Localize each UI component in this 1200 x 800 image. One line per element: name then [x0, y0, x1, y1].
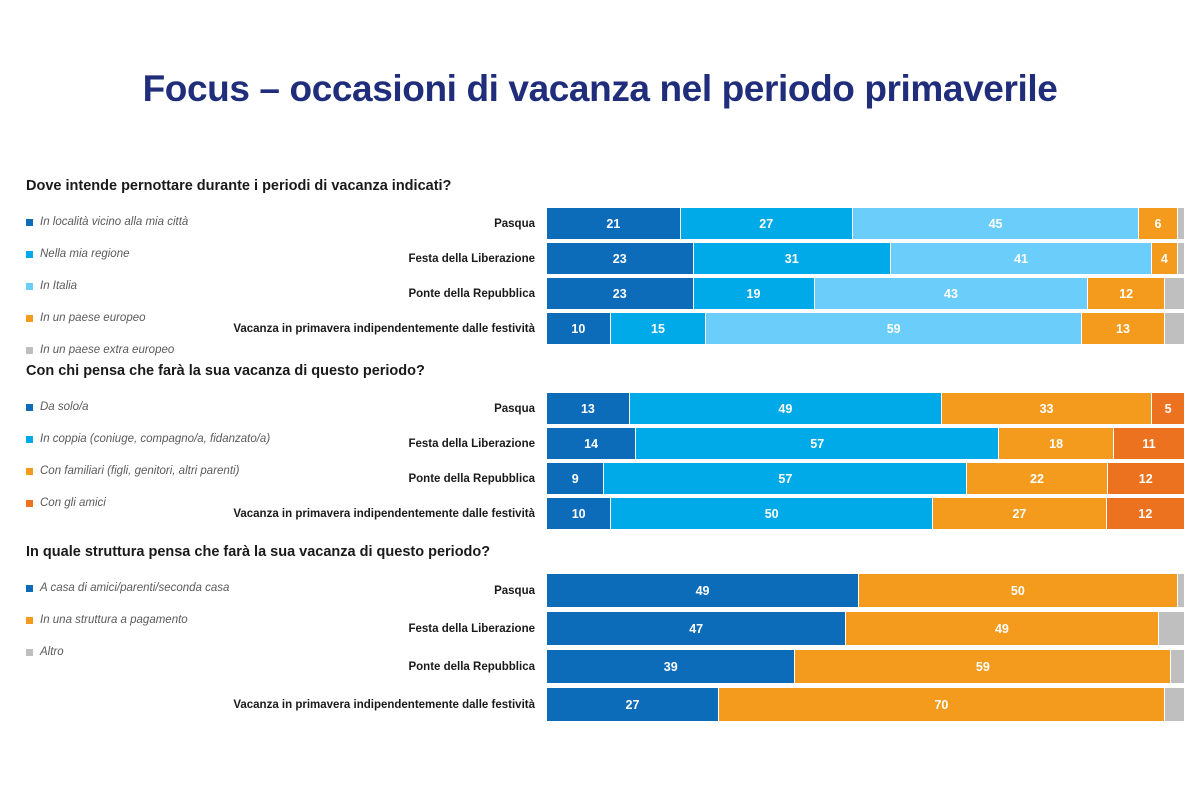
- bar-track: 23194312: [547, 278, 1184, 309]
- bar-track: 10502712: [547, 498, 1184, 529]
- section-question: In quale struttura pensa che farà la sua…: [26, 544, 490, 560]
- bar-segment-altro: [1171, 650, 1184, 683]
- category-label-ponte-della-repubblica: Ponte della Repubblica: [210, 473, 547, 485]
- bar-segment-in-una-struttura-a-pagamento: 49: [846, 612, 1158, 645]
- chart-row: Festa della Liberazione14571811: [210, 428, 1184, 459]
- bar-segment-in-un-paese-extra-europeo: [1165, 278, 1184, 309]
- bar-segment-con-familiari-figli-genitori-altri-parenti: 27: [933, 498, 1107, 529]
- chart-row: Ponte della Repubblica3959: [210, 650, 1184, 683]
- legend-item-label: In un paese europeo: [40, 313, 146, 325]
- bar-segment-in-un-paese-extra-europeo: [1178, 208, 1184, 239]
- bar-track: 2331414: [547, 243, 1184, 274]
- legend-item-label: In località vicino alla mia città: [40, 217, 188, 229]
- category-label-vacanza-in-primavera-indipendentemente-dalle: Vacanza in primavera indipendentemente d…: [210, 323, 547, 335]
- bar-segment-in-un-paese-europeo: 12: [1088, 278, 1164, 309]
- bar-segment-nella-mia-regione: 19: [694, 278, 815, 309]
- legend-swatch-icon: [26, 251, 33, 258]
- category-label-pasqua: Pasqua: [210, 585, 547, 597]
- chart-row: Vacanza in primavera indipendentemente d…: [210, 313, 1184, 344]
- legend-swatch-icon: [26, 436, 33, 443]
- legend-item-label: Da solo/a: [40, 402, 89, 414]
- bar-track: 2770: [547, 688, 1184, 721]
- bar-track: 1349335: [547, 393, 1184, 424]
- bar-segment-altro: [1165, 688, 1184, 721]
- bar-segment-in-italia: 45: [853, 208, 1140, 239]
- legend-swatch-icon: [26, 649, 33, 656]
- legend-swatch-icon: [26, 585, 33, 592]
- bar-segment-nella-mia-regione: 31: [694, 243, 891, 274]
- bar-segment-nella-mia-regione: 15: [611, 313, 707, 344]
- stacked-bar-chart: Pasqua2127456Festa della Liberazione2331…: [210, 208, 1184, 348]
- legend-swatch-icon: [26, 219, 33, 226]
- chart-row: Vacanza in primavera indipendentemente d…: [210, 688, 1184, 721]
- bar-segment-in-coppia-coniuge-compagno-a-fidanzato-a: 57: [604, 463, 967, 494]
- legend-swatch-icon: [26, 617, 33, 624]
- bar-segment-da-solo-a: 14: [547, 428, 636, 459]
- bar-segment-in-italia: 59: [706, 313, 1082, 344]
- bar-segment-da-solo-a: 13: [547, 393, 630, 424]
- section-question: Con chi pensa che farà la sua vacanza di…: [26, 363, 425, 379]
- bar-segment-in-coppia-coniuge-compagno-a-fidanzato-a: 49: [630, 393, 942, 424]
- category-label-pasqua: Pasqua: [210, 403, 547, 415]
- bar-segment-a-casa-di-amici-parenti-seconda-casa: 27: [547, 688, 719, 721]
- legend-swatch-icon: [26, 283, 33, 290]
- section-question: Dove intende pernottare durante i period…: [26, 178, 451, 194]
- category-label-festa-della-liberazione: Festa della Liberazione: [210, 438, 547, 450]
- chart-row: Ponte della Repubblica9572212: [210, 463, 1184, 494]
- bar-track: 14571811: [547, 428, 1184, 459]
- bar-segment-con-familiari-figli-genitori-altri-parenti: 22: [967, 463, 1107, 494]
- legend-swatch-icon: [26, 404, 33, 411]
- legend-item-label: Nella mia regione: [40, 249, 130, 261]
- category-label-vacanza-in-primavera-indipendentemente-dalle: Vacanza in primavera indipendentemente d…: [210, 699, 547, 711]
- legend-item-label: Con gli amici: [40, 498, 106, 510]
- chart-row: Ponte della Repubblica23194312: [210, 278, 1184, 309]
- bar-track: 9572212: [547, 463, 1184, 494]
- category-label-vacanza-in-primavera-indipendentemente-dalle: Vacanza in primavera indipendentemente d…: [210, 508, 547, 520]
- bar-segment-a-casa-di-amici-parenti-seconda-casa: 39: [547, 650, 795, 683]
- bar-segment-in-localita-vicino-alla-mia-citta: 21: [547, 208, 681, 239]
- legend-swatch-icon: [26, 468, 33, 475]
- bar-track: 2127456: [547, 208, 1184, 239]
- bar-segment-con-familiari-figli-genitori-altri-parenti: 18: [999, 428, 1114, 459]
- bar-segment-con-familiari-figli-genitori-altri-parenti: 33: [942, 393, 1152, 424]
- bar-segment-con-gli-amici: 12: [1107, 498, 1184, 529]
- chart-row: Pasqua1349335: [210, 393, 1184, 424]
- legend-item-label: In un paese extra europeo: [40, 345, 174, 357]
- bar-segment-in-un-paese-extra-europeo: [1178, 243, 1184, 274]
- category-label-pasqua: Pasqua: [210, 218, 547, 230]
- bar-segment-nella-mia-regione: 27: [681, 208, 853, 239]
- bar-segment-in-una-struttura-a-pagamento: 59: [795, 650, 1171, 683]
- legend-item-label: A casa di amici/parenti/seconda casa: [40, 583, 229, 595]
- bar-segment-in-italia: 41: [891, 243, 1152, 274]
- bar-segment-altro: [1178, 574, 1184, 607]
- bar-segment-altro: [1159, 612, 1184, 645]
- bar-track: 3959: [547, 650, 1184, 683]
- bar-segment-in-un-paese-europeo: 13: [1082, 313, 1165, 344]
- legend-swatch-icon: [26, 347, 33, 354]
- page-title: Focus – occasioni di vacanza nel periodo…: [0, 68, 1200, 110]
- chart-row: Festa della Liberazione2331414: [210, 243, 1184, 274]
- category-label-festa-della-liberazione: Festa della Liberazione: [210, 623, 547, 635]
- bar-segment-in-localita-vicino-alla-mia-citta: 23: [547, 243, 694, 274]
- legend-item-label: In una struttura a pagamento: [40, 615, 188, 627]
- bar-segment-in-italia: 43: [815, 278, 1089, 309]
- chart-row: Festa della Liberazione4749: [210, 612, 1184, 645]
- bar-segment-con-gli-amici: 12: [1108, 463, 1184, 494]
- bar-segment-da-solo-a: 9: [547, 463, 604, 494]
- chart-row: Pasqua4950: [210, 574, 1184, 607]
- bar-segment-in-un-paese-europeo: 6: [1139, 208, 1177, 239]
- legend-swatch-icon: [26, 500, 33, 507]
- bar-segment-in-un-paese-extra-europeo: [1165, 313, 1184, 344]
- category-label-ponte-della-repubblica: Ponte della Repubblica: [210, 661, 547, 673]
- bar-segment-in-localita-vicino-alla-mia-citta: 23: [547, 278, 694, 309]
- bar-segment-in-una-struttura-a-pagamento: 70: [719, 688, 1165, 721]
- bar-segment-con-gli-amici: 5: [1152, 393, 1184, 424]
- legend-item-label: Altro: [40, 647, 64, 659]
- stacked-bar-chart: Pasqua4950Festa della Liberazione4749Pon…: [210, 574, 1184, 726]
- category-label-festa-della-liberazione: Festa della Liberazione: [210, 253, 547, 265]
- bar-segment-in-coppia-coniuge-compagno-a-fidanzato-a: 50: [611, 498, 933, 529]
- bar-track: 10155913: [547, 313, 1184, 344]
- chart-row: Pasqua2127456: [210, 208, 1184, 239]
- bar-segment-da-solo-a: 10: [547, 498, 611, 529]
- bar-segment-a-casa-di-amici-parenti-seconda-casa: 49: [547, 574, 859, 607]
- bar-track: 4749: [547, 612, 1184, 645]
- bar-segment-in-una-struttura-a-pagamento: 50: [859, 574, 1178, 607]
- category-label-ponte-della-repubblica: Ponte della Repubblica: [210, 288, 547, 300]
- chart-row: Vacanza in primavera indipendentemente d…: [210, 498, 1184, 529]
- bar-segment-in-un-paese-europeo: 4: [1152, 243, 1177, 274]
- bar-segment-in-coppia-coniuge-compagno-a-fidanzato-a: 57: [636, 428, 999, 459]
- legend-item-label: In Italia: [40, 281, 77, 293]
- legend-swatch-icon: [26, 315, 33, 322]
- bar-segment-con-gli-amici: 11: [1114, 428, 1184, 459]
- bar-track: 4950: [547, 574, 1184, 607]
- stacked-bar-chart: Pasqua1349335Festa della Liberazione1457…: [210, 393, 1184, 533]
- bar-segment-in-localita-vicino-alla-mia-citta: 10: [547, 313, 611, 344]
- bar-segment-a-casa-di-amici-parenti-seconda-casa: 47: [547, 612, 846, 645]
